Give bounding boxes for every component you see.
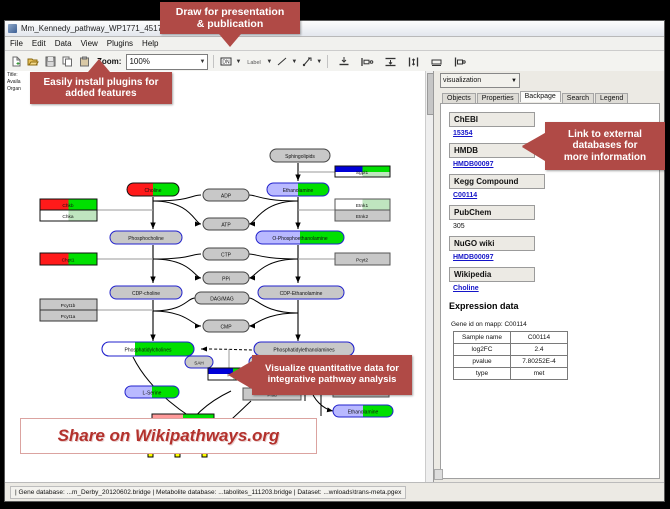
db-link-kegg[interactable]: C00114: [453, 192, 651, 199]
cell-label: log2FC: [454, 344, 511, 356]
distribute-icon[interactable]: [406, 54, 420, 69]
zoom-value: 100%: [129, 57, 149, 66]
cell-value: met: [511, 368, 568, 380]
save-icon[interactable]: [43, 54, 57, 69]
menu-item-view[interactable]: View: [81, 39, 98, 48]
gene-id-line: Gene id on mapp: C00114: [451, 321, 651, 328]
callout-plugins-stem: [94, 70, 104, 76]
callout-plugins-line2: added features: [65, 88, 136, 100]
node-choline-top[interactable]: Choline: [127, 183, 179, 196]
node-sgpl1[interactable]: Sgpl1: [335, 166, 390, 177]
chevron-down-icon[interactable]: ▼: [235, 59, 241, 65]
node-pcyt2[interactable]: Pcyt2: [335, 253, 390, 265]
node-atp[interactable]: ATP: [203, 218, 249, 230]
cell-label: Sample name: [454, 332, 511, 344]
svg-text:Etnk1: Etnk1: [356, 203, 369, 209]
cell-label: type: [454, 368, 511, 380]
share-banner: Share on Wikipathways.org: [20, 418, 317, 454]
node-phosphocholine[interactable]: Phosphocholine: [110, 231, 182, 244]
app-icon: [8, 24, 17, 33]
node-pcyt1a[interactable]: Pcyt1a: [40, 310, 97, 321]
svg-text:SAH: SAH: [194, 361, 203, 366]
cell-value: C00114: [511, 332, 568, 344]
node-phosphatidylethanolamines[interactable]: Phosphatidylethanolamines: [254, 342, 354, 356]
svg-text:PPi: PPi: [222, 277, 230, 283]
align-top-icon[interactable]: [337, 54, 351, 69]
svg-text:Pcyt2: Pcyt2: [356, 258, 368, 264]
interaction-icon[interactable]: [300, 54, 314, 69]
status-text: | Gene database: ...m_Derby_20120602.bri…: [10, 486, 406, 499]
svg-text:Phosphatidylethanolamines: Phosphatidylethanolamines: [273, 348, 335, 354]
callout-visualize-arrow: [228, 361, 252, 389]
svg-text:Choline: Choline: [145, 188, 162, 194]
tab-backpage[interactable]: Backpage: [520, 91, 561, 102]
db-header-pubchem: PubChem: [449, 205, 535, 220]
svg-text:ADP: ADP: [221, 194, 232, 200]
node-o-phosphoethanolamine[interactable]: O-Phosphoethanolamine: [256, 231, 344, 244]
node-cdp-choline[interactable]: CDP-choline: [110, 286, 182, 299]
chevron-down-icon: ▼: [511, 78, 517, 84]
pathway-meta: Title: Availa Organ: [7, 72, 21, 93]
svg-text:Phosphocholine: Phosphocholine: [128, 236, 164, 242]
db-header-nugowiki: NuGO wiki: [449, 236, 535, 251]
chevron-down-icon[interactable]: ▼: [316, 59, 322, 65]
cell-value: 2.4: [511, 344, 568, 356]
svg-text:Pcyt1a: Pcyt1a: [61, 314, 76, 320]
svg-text:DN: DN: [223, 60, 231, 66]
callout-viz-line2: integrative pathway analysis: [268, 375, 397, 386]
visualization-value: visualization: [443, 77, 481, 84]
svg-text:Sphingolipids: Sphingolipids: [285, 154, 315, 160]
chevron-down-icon[interactable]: ▼: [266, 59, 272, 65]
expression-data-header: Expression data: [449, 301, 651, 311]
db-value-pubchem: 305: [453, 223, 651, 230]
callout-links: Link to external databases for more info…: [545, 122, 665, 170]
callout-draw-line2: & publication: [197, 18, 264, 30]
group-icon[interactable]: [452, 54, 466, 69]
svg-text:Phosphatidylcholines: Phosphatidylcholines: [125, 348, 172, 354]
node-ethanolamine[interactable]: Ethanolamine: [267, 183, 329, 196]
node-pcyt1b[interactable]: Pcyt1b: [40, 299, 97, 310]
node-cdp-ethanolamine[interactable]: CDP-Ethanolamine: [258, 286, 344, 299]
menu-bar: File Edit Data View Plugins Help: [5, 37, 664, 51]
toolbar-separator: [213, 55, 214, 68]
status-bar: | Gene database: ...m_Derby_20120602.bri…: [5, 482, 664, 501]
node-chkb[interactable]: Chkb: [40, 199, 97, 210]
tab-search[interactable]: Search: [562, 93, 594, 103]
table-row: type met: [454, 368, 568, 380]
callout-links-arrow: [522, 133, 545, 161]
node-dag-mag[interactable]: DAG/MAG: [195, 292, 249, 304]
db-link-nugowiki[interactable]: HMDB00097: [453, 254, 651, 261]
menu-item-edit[interactable]: Edit: [32, 39, 46, 48]
callout-links-line1: Link to external: [568, 129, 642, 141]
menu-item-file[interactable]: File: [10, 39, 23, 48]
callout-visualize-stem: [250, 367, 256, 383]
callout-links-line3: more information: [564, 152, 646, 164]
toolbar-separator: [327, 55, 328, 68]
size-icon[interactable]: [429, 54, 443, 69]
open-icon[interactable]: [26, 54, 40, 69]
svg-text:Label: Label: [248, 60, 261, 66]
cell-label: pvalue: [454, 356, 511, 368]
table-row: Sample name C00114: [454, 332, 568, 344]
node-ethanolamine-bottom[interactable]: Ethanolamine: [333, 405, 393, 417]
svg-text:Pcyt1b: Pcyt1b: [61, 303, 76, 309]
visualization-select[interactable]: visualization ▼: [440, 73, 520, 88]
callout-plugins-line1: Easily install plugins for: [43, 77, 158, 89]
chevron-down-icon: ▼: [199, 59, 205, 65]
tab-legend[interactable]: Legend: [595, 93, 628, 103]
menu-item-data[interactable]: Data: [55, 39, 72, 48]
svg-text:CDP-choline: CDP-choline: [132, 291, 160, 297]
callout-links-line2: databases for: [572, 140, 637, 152]
node-l-serine-left[interactable]: L-Serine: [125, 386, 179, 398]
menu-item-help[interactable]: Help: [142, 39, 158, 48]
menu-item-plugins[interactable]: Plugins: [107, 39, 133, 48]
svg-text:Etnk2: Etnk2: [356, 214, 369, 220]
db-header-kegg: Kegg Compound: [449, 174, 545, 189]
expression-table: Sample name C00114 log2FC 2.4 pvalue 7.8…: [453, 331, 568, 380]
node-cmp[interactable]: CMP: [203, 320, 249, 332]
svg-text:DAG/MAG: DAG/MAG: [210, 297, 234, 303]
db-header-wikipedia: Wikipedia: [449, 267, 535, 282]
align-left-icon[interactable]: [360, 54, 374, 69]
canvas-scrollbar[interactable]: [425, 71, 433, 483]
tab-bar: Objects Properties Backpage Search Legen…: [442, 90, 664, 103]
svg-text:CDP-Ethanolamine: CDP-Ethanolamine: [280, 291, 323, 297]
db-link-wikipedia[interactable]: Choline: [453, 285, 651, 292]
callout-visualize: Visualize quantitative data for integrat…: [252, 355, 412, 395]
datanode-icon[interactable]: DN: [219, 54, 233, 69]
node-etnk2[interactable]: Etnk2: [335, 210, 390, 221]
callout-plugins: Easily install plugins for added feature…: [30, 72, 172, 104]
meta-organism-label: Organ: [7, 86, 21, 93]
tab-properties[interactable]: Properties: [477, 93, 519, 103]
svg-text:ATP: ATP: [221, 223, 231, 229]
callout-draw-line1: Draw for presentation: [176, 6, 285, 18]
zoom-select[interactable]: 100% ▼: [126, 54, 208, 70]
svg-text:Chpt1: Chpt1: [62, 258, 75, 264]
node-sah[interactable]: SAH: [185, 356, 213, 368]
line-icon[interactable]: [275, 54, 289, 69]
svg-text:Ethanolamine: Ethanolamine: [283, 188, 314, 194]
node-phosphatidylcholines[interactable]: Phosphatidylcholines: [102, 342, 194, 356]
svg-text:Chkb: Chkb: [62, 203, 74, 209]
node-chka[interactable]: Chka: [40, 210, 97, 221]
db-header-chebi: ChEBI: [449, 112, 535, 127]
panel-scroll-button[interactable]: [434, 469, 443, 480]
tab-objects[interactable]: Objects: [442, 93, 476, 103]
share-text: Share on Wikipathways.org: [58, 426, 280, 446]
svg-text:CTP: CTP: [221, 253, 232, 259]
chevron-down-icon[interactable]: ▼: [291, 59, 297, 65]
meta-availability-label: Availa: [7, 79, 21, 86]
svg-text:Sgpl1: Sgpl1: [356, 170, 369, 176]
label-icon[interactable]: Label: [244, 54, 264, 69]
node-etnk1[interactable]: Etnk1: [335, 199, 390, 210]
svg-text:CMP: CMP: [220, 325, 232, 331]
node-chpt1[interactable]: Chpt1: [40, 253, 97, 265]
table-row: log2FC 2.4: [454, 344, 568, 356]
title-bar: Mm_Kennedy_pathway_WP1771_45176.gpml: [5, 21, 664, 37]
callout-links-stem: [543, 139, 549, 155]
node-sphingolipids[interactable]: Sphingolipids: [270, 149, 330, 162]
svg-text:L-Serine: L-Serine: [143, 391, 162, 397]
callout-draw-stem: [225, 30, 235, 38]
node-ctp[interactable]: CTP: [203, 248, 249, 260]
scrollbar-thumb[interactable]: [427, 73, 434, 115]
new-icon[interactable]: [9, 54, 23, 69]
node-adp[interactable]: ADP: [203, 189, 249, 201]
svg-text:O-Phosphoethanolamine: O-Phosphoethanolamine: [272, 236, 328, 242]
meta-title-label: Title:: [7, 72, 21, 79]
copy-icon[interactable]: [60, 54, 74, 69]
svg-text:Ethanolamine: Ethanolamine: [348, 410, 379, 416]
node-ppi[interactable]: PPi: [203, 272, 249, 284]
stack-icon[interactable]: [383, 54, 397, 69]
svg-text:Chka: Chka: [62, 214, 74, 220]
table-row: pvalue 7.80252E-4: [454, 356, 568, 368]
cell-value: 7.80252E-4: [511, 356, 568, 368]
